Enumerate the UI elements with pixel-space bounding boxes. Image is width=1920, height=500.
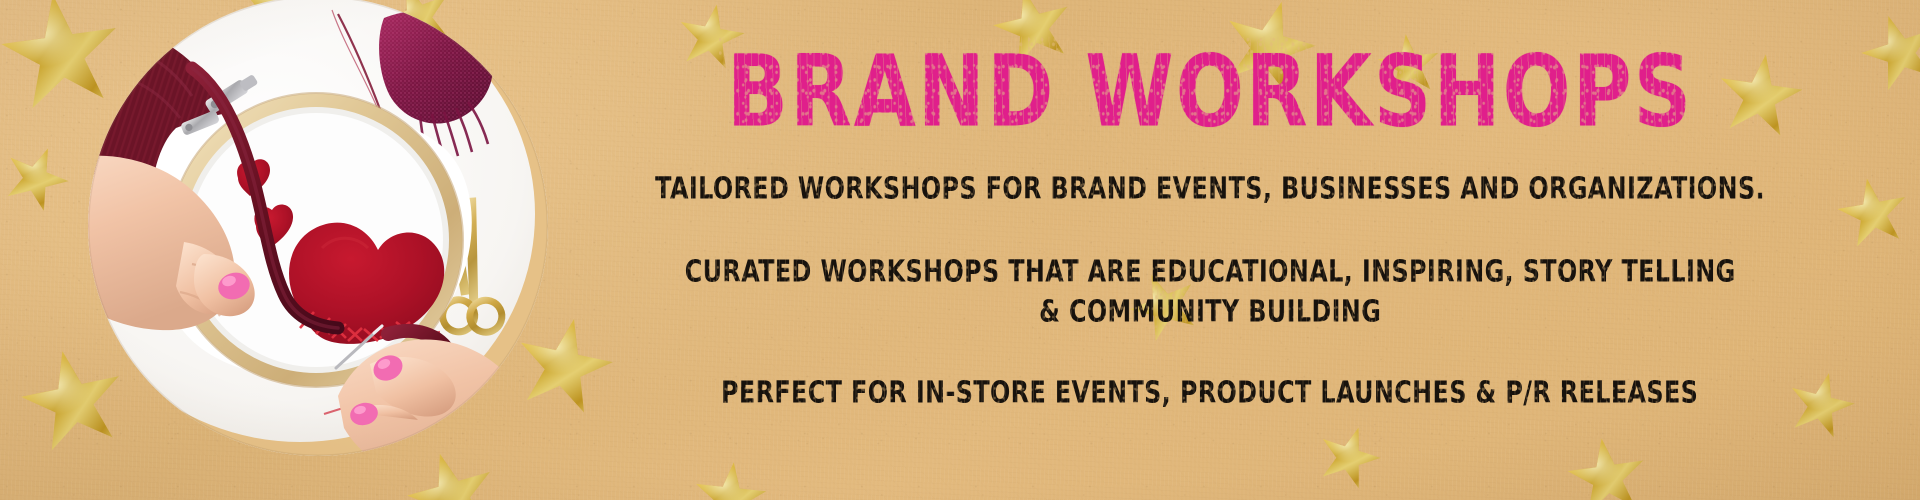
banner-vignette-overlay <box>0 0 1920 500</box>
brand-workshops-banner: BRAND WORKSHOPS TAILORED WORKSHOPS FOR B… <box>0 0 1920 500</box>
